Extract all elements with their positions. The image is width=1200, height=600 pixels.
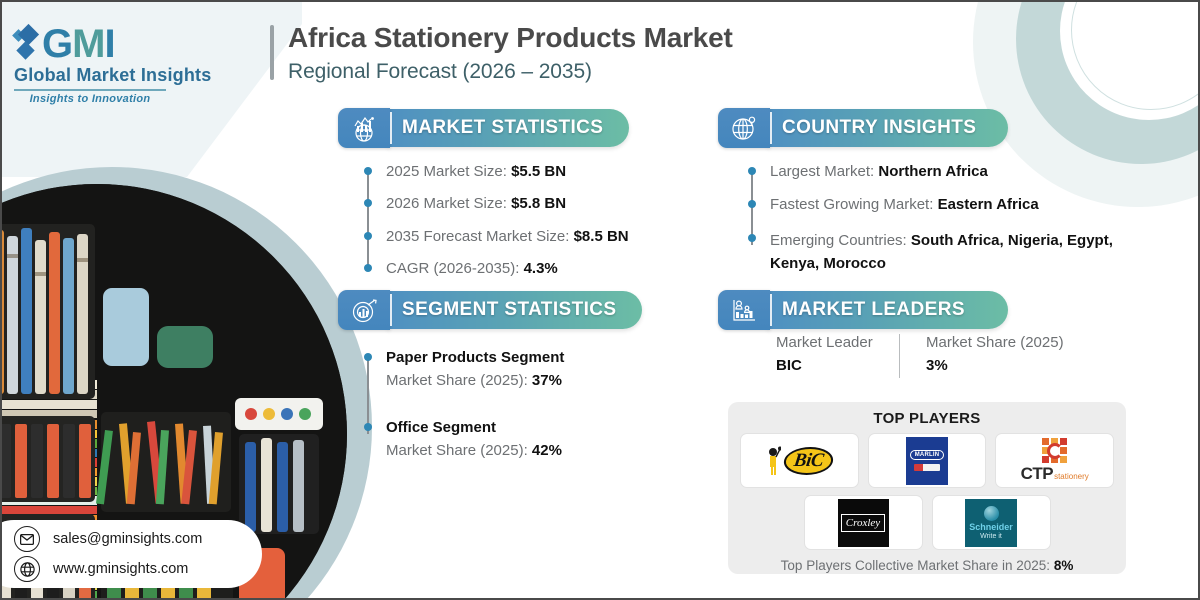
list-item: 2025 Market Size: $5.5 BN [364, 162, 694, 182]
ctp-mark-icon [1042, 438, 1068, 464]
player-logo-schneider-sub: Write it [980, 533, 1002, 540]
player-logo-croxley-text: Croxley [841, 514, 885, 532]
podium-people-icon [718, 290, 770, 330]
market-share-label: Market Share (2025) [926, 334, 1064, 351]
top-players-footer: Top Players Collective Market Share in 2… [740, 558, 1114, 573]
player-logo-ctp-sub: stationery [1054, 472, 1089, 481]
globe-icon [14, 556, 40, 582]
contact-website-row[interactable]: www.gminsights.com [14, 556, 262, 582]
pie-target-icon [338, 290, 390, 330]
market-statistics-header: MARKET STATISTICS [338, 108, 629, 148]
segment-statistics-label: SEGMENT STATISTICS [402, 299, 616, 321]
player-logo-schneider-text: Schneider [969, 522, 1013, 532]
list-item: Fastest Growing Market: Eastern Africa [748, 195, 1148, 215]
market-leader-label: Market Leader [776, 334, 873, 351]
country-insights-label: COUNTRY INSIGHTS [782, 117, 976, 139]
market-leader-block: Market Leader BIC Market Share (2025) 3% [776, 334, 1064, 378]
list-item: 2026 Market Size: $5.8 BN [364, 194, 694, 214]
market-statistics-label: MARKET STATISTICS [402, 117, 603, 139]
list-item: 2035 Forecast Market Size: $8.5 BN [364, 227, 694, 247]
gmi-logo: GMI Global Market Insights Insights to I… [14, 24, 174, 105]
page-title: Africa Stationery Products Market [288, 22, 733, 54]
logo-divider [14, 89, 166, 91]
player-logo-bic-text: BiC [793, 450, 825, 471]
player-logo-schneider: Schneider Write it [932, 495, 1051, 550]
list-item: Paper Products Segment Market Share (202… [364, 348, 694, 392]
market-leaders-label: MARKET LEADERS [782, 299, 965, 321]
list-item: Office Segment Market Share (2025): 42% [364, 418, 694, 462]
bic-mascot-icon [765, 446, 781, 476]
infographic-page: GMI Global Market Insights Insights to I… [0, 0, 1200, 600]
market-share-col: Market Share (2025) 3% [926, 334, 1064, 374]
contact-email[interactable]: sales@gminsights.com [53, 531, 202, 547]
market-statistics-list: 2025 Market Size: $5.5 BN 2026 Market Si… [364, 162, 694, 279]
player-logo-marlin-text: MARLIN [910, 450, 945, 460]
contact-website[interactable]: www.gminsights.com [53, 561, 188, 577]
market-share-value: 3% [926, 357, 1064, 374]
player-logo-croxley: Croxley [804, 495, 923, 550]
logo-tagline: Insights to Innovation [14, 93, 166, 105]
top-players-row-1: BiC MARLIN [740, 433, 1114, 488]
top-players-row-2: Croxley Schneider Write it [740, 495, 1114, 550]
market-leader-col: Market Leader BIC [776, 334, 873, 374]
player-logo-ctp: CTP stationery [995, 433, 1114, 488]
list-item: CAGR (2026-2035): 4.3% [364, 259, 694, 279]
player-logo-bic: BiC [740, 433, 859, 488]
contact-panel: sales@gminsights.com www.gminsights.com [0, 520, 262, 588]
market-leaders-header: MARKET LEADERS [718, 290, 1008, 330]
leader-divider [899, 334, 900, 378]
list-item: Emerging Countries: South Africa, Nigeri… [748, 229, 1148, 276]
player-logo-marlin: MARLIN [868, 433, 987, 488]
market-leader-value: BIC [776, 357, 873, 374]
schneider-globe-icon [984, 506, 999, 521]
list-item: Largest Market: Northern Africa [748, 162, 1148, 182]
title-accent-bar [270, 25, 274, 80]
globe-chart-icon [338, 108, 390, 148]
segment-statistics-header: SEGMENT STATISTICS [338, 290, 642, 330]
top-players-card: TOP PLAYERS BiC [728, 402, 1126, 574]
title-block: Africa Stationery Products Market Region… [270, 22, 733, 84]
page-subtitle: Regional Forecast (2026 – 2035) [288, 60, 733, 84]
top-players-title: TOP PLAYERS [740, 410, 1114, 427]
country-insights-list: Largest Market: Northern Africa Fastest … [748, 162, 1148, 275]
country-insights-header: COUNTRY INSIGHTS [718, 108, 1008, 148]
contact-email-row[interactable]: sales@gminsights.com [14, 526, 262, 552]
player-logo-ctp-text: CTP [1021, 464, 1054, 484]
globe-pin-icon [718, 108, 770, 148]
logo-acronym: GMI [42, 24, 115, 64]
envelope-icon [14, 526, 40, 552]
segment-statistics-list: Paper Products Segment Market Share (202… [364, 348, 694, 461]
logo-company-name: Global Market Insights [14, 65, 174, 86]
logo-diamond-icon [14, 25, 40, 63]
